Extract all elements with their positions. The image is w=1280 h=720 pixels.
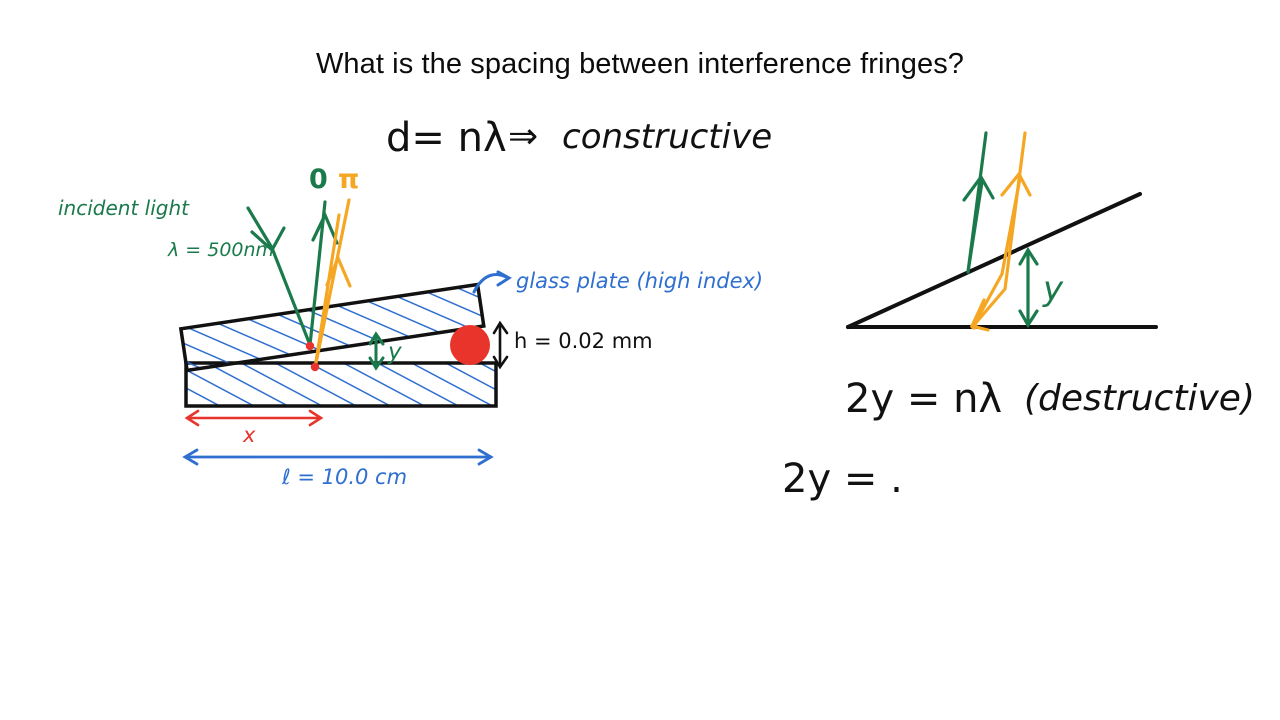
wedge-ray-green [964,133,993,272]
dimension-x-label: x [242,423,256,447]
glass-plate-label: glass plate (high index) [516,269,763,293]
reflection-dot-top [306,342,314,350]
gap-arrow-y-right [1020,250,1037,325]
wedge-upper-line [848,194,1140,327]
gap-label-y-left: y [387,339,402,365]
dimension-length [185,450,491,464]
wedge-reflection-dot [970,322,977,329]
spacer-circle [450,325,490,365]
equation-constructive-rhs: constructive [562,117,772,157]
height-arrow-h [494,323,507,367]
height-label-h: h = 0.02 mm [514,329,653,353]
gap-label-y-right: y [1042,269,1064,309]
wavelength-label: λ = 500nm [167,239,274,261]
phase-zero-label: 0 [309,164,328,195]
equation-destructive: 2y = nλ (destructive) [845,376,1255,422]
dimension-length-label: ℓ = 10.0 cm [281,465,407,489]
equation-destructive-lhs: 2y = nλ [845,376,1002,422]
top-glass-plate [181,284,484,370]
reflection-dot-bottom [311,363,319,371]
gap-arrow-y-left [370,334,383,368]
phase-pi-label: π [338,164,359,195]
incident-light-label: incident light [58,196,190,220]
equation-working: 2y = . [782,456,903,502]
equation-destructive-note: (destructive) [1024,378,1255,419]
wedge-lines [848,194,1156,327]
equation-constructive: d= nλ ⇒ constructive [386,115,772,161]
glass-plate-callout: glass plate (high index) [474,269,763,293]
implies-arrow-icon: ⇒ [508,116,538,157]
handwriting-layer: d= nλ ⇒ constructive [0,0,1280,720]
whiteboard-canvas: What is the spacing between interference… [0,0,1280,720]
bottom-glass-plate [186,363,496,406]
equation-constructive-lhs: d= nλ [386,115,507,161]
